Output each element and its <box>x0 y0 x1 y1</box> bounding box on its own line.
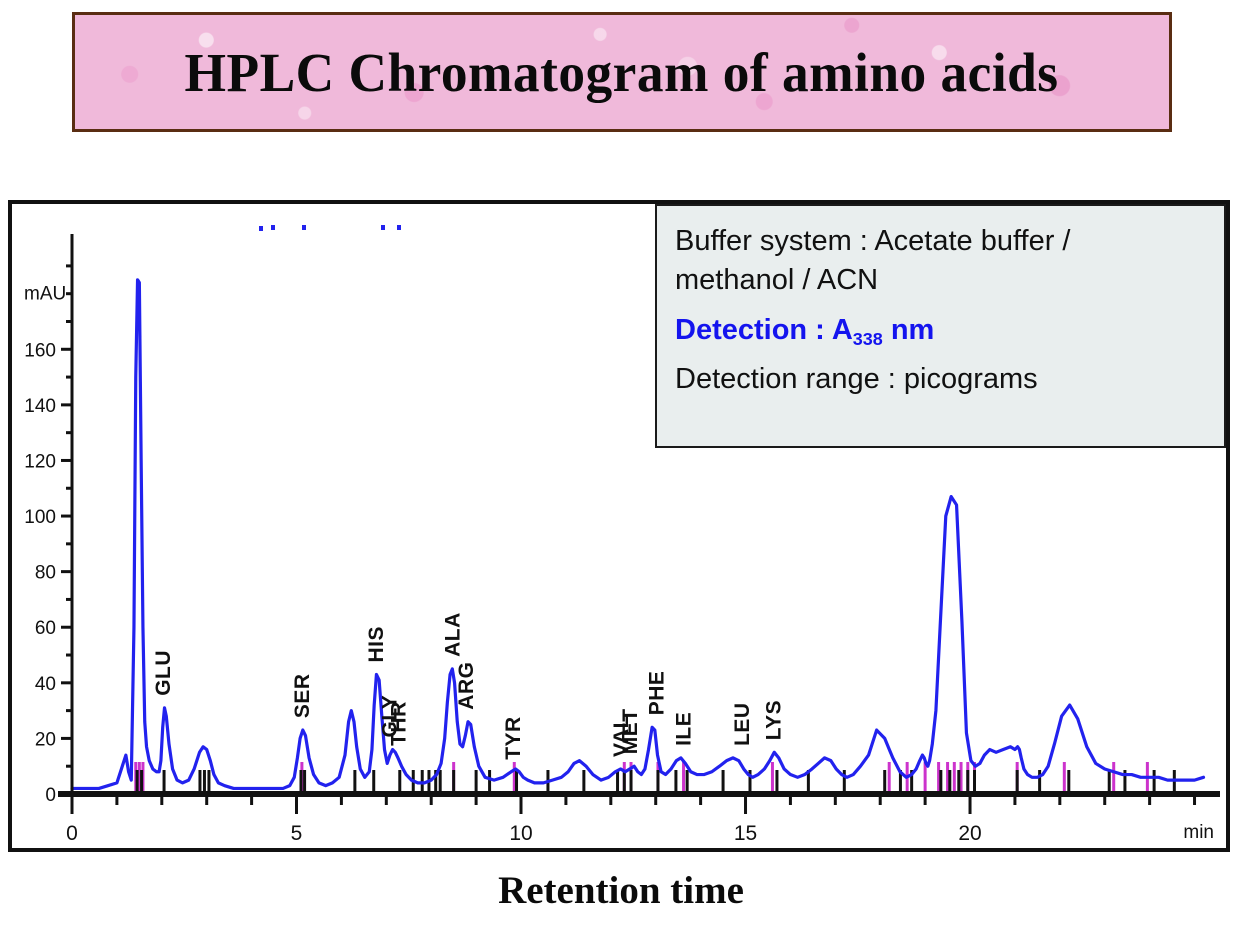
peak-label-lys: LYS <box>763 700 786 740</box>
x-axis-unit-label: min <box>1183 822 1214 843</box>
y-tick-label: 160 <box>24 340 56 361</box>
x-tick-label: 0 <box>66 822 78 845</box>
trace-artifact <box>259 226 263 231</box>
detection-subscript: 338 <box>853 329 883 349</box>
y-tick-label: 100 <box>24 507 56 528</box>
trace-artifact <box>381 225 385 230</box>
trace-artifact <box>271 225 275 230</box>
peak-label-leu: LEU <box>731 702 754 746</box>
detection-suffix: nm <box>883 314 935 346</box>
method-info-box: Buffer system : Acetate buffer / methano… <box>655 204 1226 448</box>
x-axis-title: Retention time <box>0 868 1242 913</box>
trace-artifact <box>397 225 401 230</box>
peak-label-thr: THR <box>388 701 411 746</box>
buffer-system-line1: Buffer system : Acetate buffer / <box>675 224 1210 259</box>
x-tick-label: 10 <box>509 822 532 845</box>
peak-label-tyr: TYR <box>502 716 525 760</box>
detection-range-line: Detection range : picograms <box>675 362 1210 397</box>
x-tick-label: 15 <box>734 822 757 845</box>
detection-prefix: Detection : A <box>675 314 853 346</box>
x-tick-label: 20 <box>958 822 981 845</box>
peak-label-glu: GLU <box>152 650 175 696</box>
detection-wavelength-line: Detection : A338 nm <box>675 313 1210 348</box>
y-tick-label: 140 <box>24 396 56 417</box>
peak-label-met: MET <box>619 708 642 754</box>
y-tick-label: 120 <box>24 451 56 472</box>
y-tick-label: 60 <box>35 618 56 639</box>
peak-label-arg: ARG <box>455 662 478 710</box>
x-tick-label: 5 <box>291 822 303 845</box>
chromatogram-panel: 020406080100120140160mAU05101520minGLUSE… <box>8 200 1230 852</box>
y-tick-label: 80 <box>35 563 56 584</box>
peak-label-phe: PHE <box>646 671 669 716</box>
buffer-system-line2: methanol / ACN <box>675 263 1210 298</box>
peak-label-ile: ILE <box>673 712 696 746</box>
y-tick-label: 20 <box>35 729 56 750</box>
y-axis-unit-label: mAU <box>24 283 66 304</box>
y-tick-label: 40 <box>35 674 56 695</box>
peak-label-his: HIS <box>365 626 388 663</box>
peak-label-ser: SER <box>291 673 314 718</box>
title-banner: HPLC Chromatogram of amino acids <box>72 12 1172 132</box>
trace-artifact <box>302 225 306 230</box>
peak-label-ala: ALA <box>441 612 464 657</box>
page-title: HPLC Chromatogram of amino acids <box>185 41 1059 104</box>
y-tick-label: 0 <box>45 785 56 806</box>
